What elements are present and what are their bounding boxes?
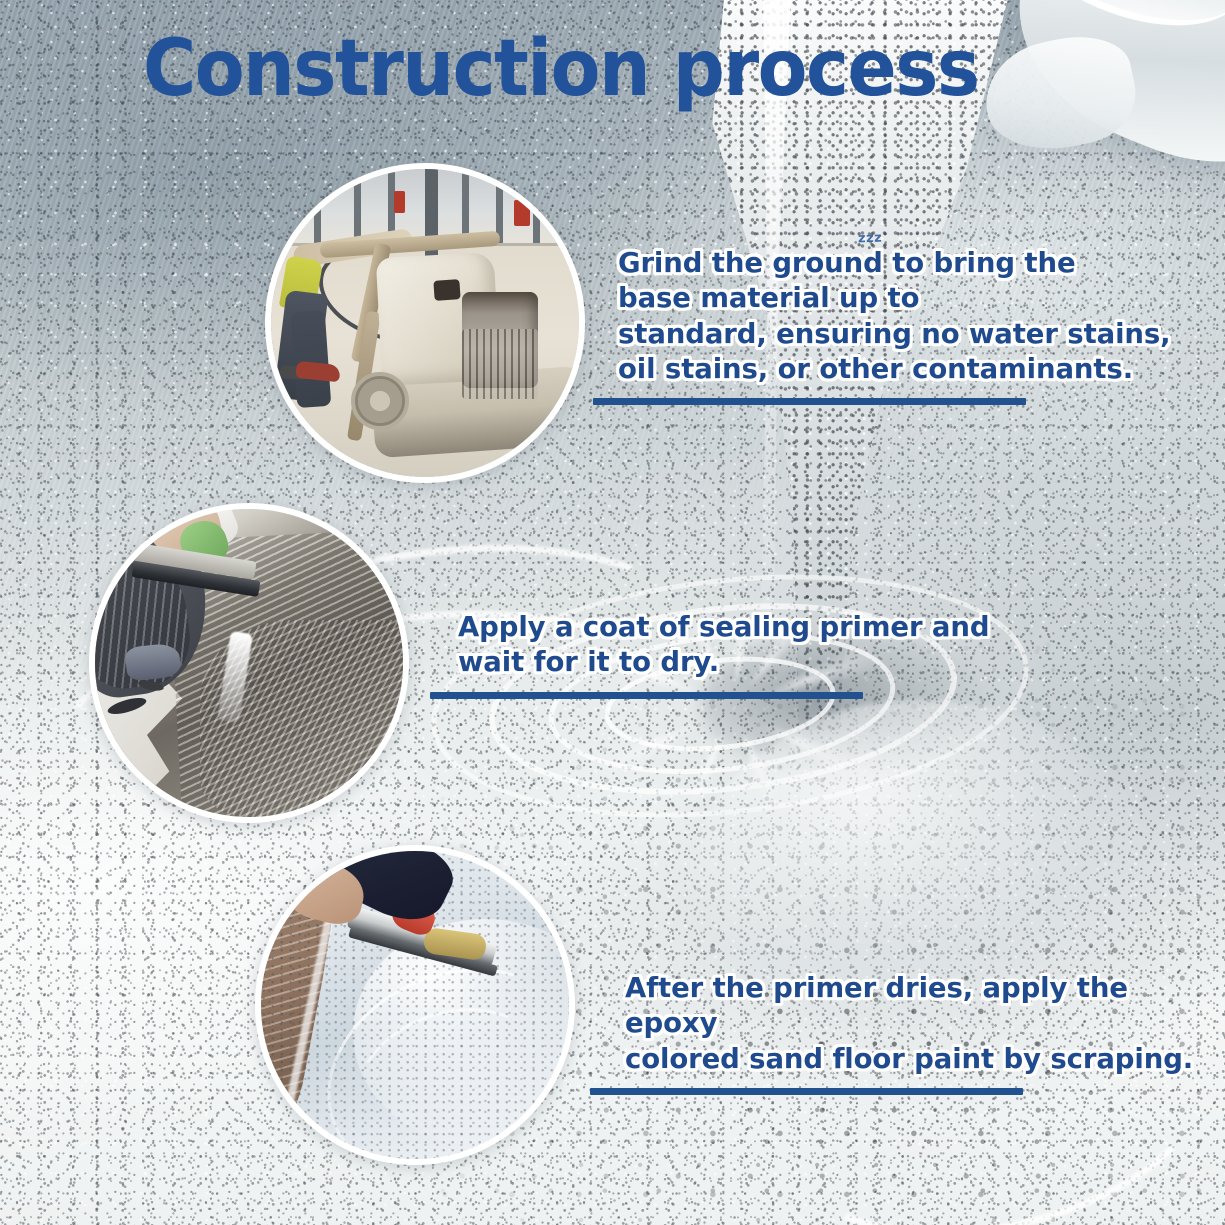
step-1-text: Grind the ground to bring the base mater… [618, 246, 1218, 387]
motor-cooling-fins [462, 329, 538, 399]
red-marker [394, 191, 405, 213]
red-marker [514, 200, 530, 226]
structural-column [462, 169, 469, 243]
step-2-underline [430, 692, 863, 699]
scraping-scene [261, 851, 569, 1159]
worker-leg [291, 310, 332, 408]
watermark-text: zzz [858, 231, 883, 247]
step-3-text: After the primer dries, apply the epoxy … [625, 971, 1225, 1077]
step-3-underline [590, 1088, 1023, 1095]
step-1-block: Grind the ground to bring the base mater… [618, 246, 1218, 405]
grinding-scene [271, 169, 579, 477]
structural-column [314, 169, 321, 243]
page-title: Construction process [143, 24, 979, 114]
step-2-text: Apply a coat of sealing primer and wait … [458, 610, 1028, 681]
tank-opening [434, 279, 461, 301]
floor-grinding-photo[interactable] [265, 163, 585, 483]
structural-column [533, 169, 540, 243]
sealing-primer-photo[interactable] [89, 503, 409, 823]
step-1-underline [593, 398, 1026, 405]
primer-scene [95, 509, 403, 817]
structural-column [354, 169, 361, 243]
grinder-wheel [351, 372, 409, 430]
step-3-block: After the primer dries, apply the epoxy … [625, 971, 1225, 1095]
step-2-block: Apply a coat of sealing primer and wait … [458, 610, 1028, 699]
epoxy-scraping-photo[interactable] [255, 845, 575, 1165]
construction-process-poster: Construction process zzz [0, 0, 1225, 1225]
